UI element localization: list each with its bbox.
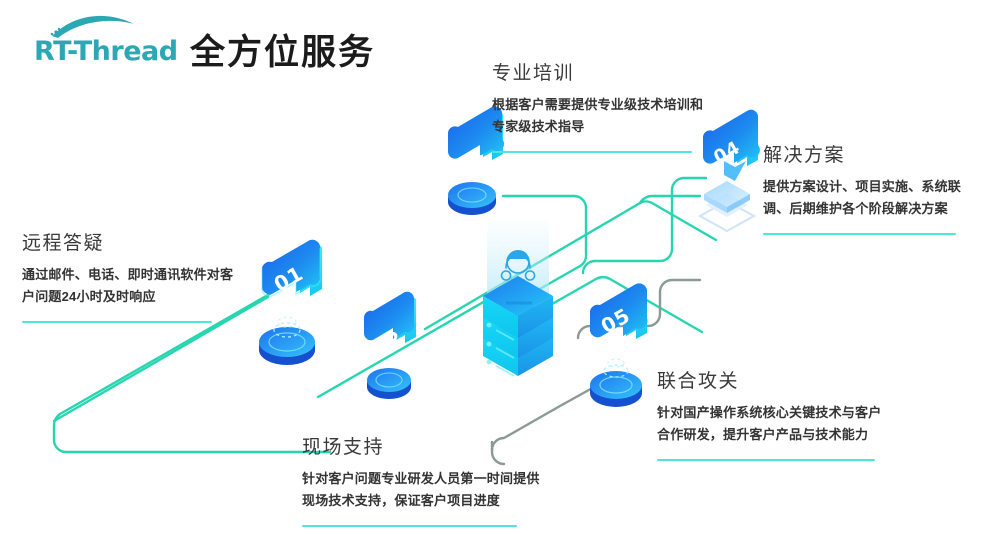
node-text-training: 专业培训 根据客户需要提供专业级技术培训和专家级技术指导 — [492, 58, 714, 153]
connector-to-04 — [538, 277, 702, 332]
accent-rule-02 — [302, 525, 517, 527]
pin-platform-04 — [700, 181, 754, 231]
isometric-server-stack-icon — [483, 276, 553, 376]
pin-marker-01[interactable]: 01 — [259, 240, 322, 365]
pin-bubble-01 — [262, 240, 322, 297]
hologram-beam — [487, 220, 549, 318]
connector-right-upper — [583, 178, 706, 273]
node-desc-05: 针对国产操作系统核心关键技术与客户合作研发，提升客户产品与技术能力 — [657, 402, 889, 446]
pin-label-05: 05 — [597, 303, 635, 338]
node-text-solution: 解决方案 提供方案设计、项目实施、系统联调、后期维护各个阶段解决方案 — [763, 140, 963, 235]
pin-bubble-05 — [590, 283, 648, 339]
pin-base-02 — [367, 368, 411, 399]
support-agent-hologram-icon — [502, 250, 535, 296]
node-title-04: 解决方案 — [763, 140, 963, 167]
pin-marker-05[interactable]: 05 — [590, 283, 648, 407]
pin-label-01: 01 — [270, 261, 308, 296]
pin-base-05 — [590, 359, 642, 407]
node-desc-02: 针对客户问题专业研发人员第一时间提供现场技术支持，保证客户项目进度 — [302, 468, 546, 512]
accent-rule-01 — [22, 321, 212, 323]
node-title-03: 专业培训 — [492, 58, 714, 85]
node-title-01: 远程答疑 — [22, 228, 234, 255]
connector-04-feed — [640, 196, 700, 203]
node-title-05: 联合攻关 — [657, 366, 889, 393]
pin-marker-02[interactable]: 02 — [364, 292, 416, 399]
brand-logo[interactable]: RT-Thread — [18, 8, 178, 64]
connector-05-loop — [578, 280, 700, 338]
node-text-joint-research: 联合攻关 针对国产操作系统核心关键技术与客户合作研发，提升客户产品与技术能力 — [657, 366, 889, 461]
pin-label-03: 03 — [455, 145, 489, 176]
brand-wordmark: RT-Thread — [34, 36, 178, 67]
connector-center-to-03 — [425, 201, 716, 329]
node-desc-01: 通过邮件、电话、即时通讯软件对客户问题24小时及时响应 — [22, 264, 234, 308]
connector-03-branch — [503, 196, 586, 306]
accent-rule-04 — [763, 233, 956, 235]
pin-base-03 — [448, 182, 496, 215]
pin-base-01 — [259, 317, 315, 365]
infographic-canvas: 01 02 — [0, 0, 993, 534]
node-text-remote-support: 远程答疑 通过邮件、电话、即时通讯软件对客户问题24小时及时响应 — [22, 228, 234, 323]
node-text-onsite-support: 现场支持 针对客户问题专业研发人员第一时间提供现场技术支持，保证客户项目进度 — [302, 432, 546, 527]
node-desc-03: 根据客户需要提供专业级技术培训和专家级技术指导 — [492, 94, 714, 138]
node-title-02: 现场支持 — [302, 432, 546, 459]
accent-rule-03 — [492, 151, 692, 153]
pin-bubble-02 — [364, 292, 416, 343]
page-title: 全方位服务 — [190, 24, 375, 75]
pin-label-02: 02 — [372, 327, 406, 358]
pin-label-04: 04 — [710, 137, 744, 168]
center-support-unit — [483, 220, 553, 376]
connector-02-to-center — [318, 281, 520, 397]
node-desc-04: 提供方案设计、项目实施、系统联调、后期维护各个阶段解决方案 — [763, 176, 963, 220]
accent-rule-05 — [657, 459, 875, 461]
